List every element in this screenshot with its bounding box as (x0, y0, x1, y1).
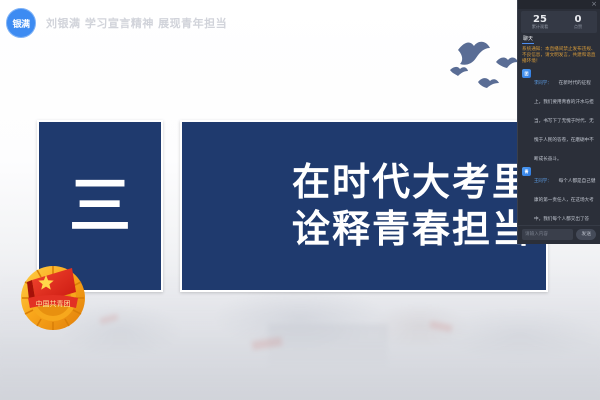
avatar: 青 (522, 167, 531, 176)
close-icon[interactable]: × (590, 0, 598, 8)
tab-chat[interactable]: 聊天 (522, 36, 534, 44)
stat-likes-label: 点赞 (561, 25, 596, 31)
stat-likes: 0 点赞 (559, 14, 597, 31)
watermark-flag-shape (430, 321, 453, 332)
chat-message-text: 在新时代的征程上，我们要用青春的汗水与担当，书写下了无愧于时代、无愧于人民的答卷… (534, 81, 594, 162)
section-number: 三 (69, 175, 131, 237)
chat-panel-titlebar: × (518, 0, 600, 9)
send-button[interactable]: 发送 (576, 229, 596, 240)
brand-logo-text: 银满 (12, 17, 29, 30)
communist-youth-league-emblem: 中国共青团 (14, 252, 92, 334)
svg-text:中国共青团: 中国共青团 (36, 299, 71, 308)
watermark-building-shape (268, 324, 388, 366)
chat-input[interactable]: 请输入内容 (522, 229, 573, 240)
screen-root: 银满 刘银满 学习宣言精神 展现青年担当 三 在时代大考里 诠释青春担当 (0, 0, 600, 400)
topbar-title: 刘银满 学习宣言精神 展现青年担当 (46, 15, 227, 31)
chat-message-user[interactable]: 李同学： (534, 81, 552, 86)
heading-line-1: 在时代大考里 (292, 161, 532, 204)
chat-message-text: 每个人都是自己健康的第一责任人，在这场大考中，我们每个人都交出了答卷，也让青春绽… (534, 179, 595, 225)
chat-message-body: 李同学： 在新时代的征程上，我们要用青春的汗水与担当，书写下了无愧于时代、无愧于… (534, 69, 596, 164)
presentation-slide: 银满 刘银满 学习宣言精神 展现青年担当 三 在时代大考里 诠释青春担当 (0, 0, 600, 400)
chat-tabs[interactable]: 聊天 (518, 33, 600, 46)
stat-views-value: 25 (521, 14, 559, 25)
chat-message-user[interactable]: 王同学： (534, 179, 552, 184)
chat-message-body: 王同学： 每个人都是自己健康的第一责任人，在这场大考中，我们每个人都交出了答卷，… (534, 167, 596, 225)
slide-heading-panel: 在时代大考里 诠释青春担当 (180, 120, 548, 292)
chat-input-row[interactable]: 请输入内容 发送 (518, 225, 600, 244)
watermark-flag-shape (100, 314, 119, 325)
chat-stats-bar: 25 累计观看 0 点赞 (521, 11, 597, 33)
heading-line-2: 诠释青春担当 (292, 208, 532, 251)
live-chat-panel[interactable]: × 25 累计观看 0 点赞 聊天 系统通知：本直播间禁止发布违规、不良信息，请… (517, 0, 600, 244)
chat-message: 青 王同学： 每个人都是自己健康的第一责任人，在这场大考中，我们每个人都交出了答… (522, 167, 596, 225)
stat-views-label: 累计观看 (523, 25, 558, 31)
brand-logo-icon: 银满 (6, 8, 36, 38)
chat-message: 团 李同学： 在新时代的征程上，我们要用青春的汗水与担当，书写下了无愧于时代、无… (522, 69, 596, 164)
chat-message-list[interactable]: 系统通知：本直播间禁止发布违规、不良信息，请文明发言，共建和谐直播环境！ 团 李… (518, 46, 600, 225)
avatar: 团 (522, 69, 531, 78)
stat-likes-value: 0 (559, 14, 597, 25)
system-notice: 系统通知：本直播间禁止发布违规、不良信息，请文明发言，共建和谐直播环境！ (522, 47, 596, 66)
stat-views: 25 累计观看 (521, 14, 559, 31)
